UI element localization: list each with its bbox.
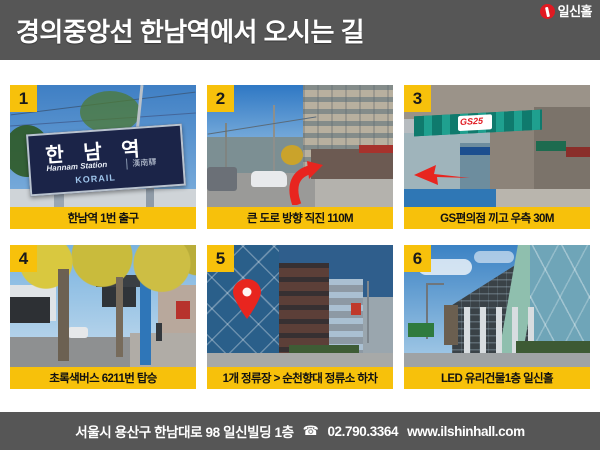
road	[404, 353, 590, 367]
step-caption-1: 한남역 1번 출구	[10, 207, 196, 229]
korail-logo: KORAIL	[75, 172, 116, 185]
shop-awning	[566, 147, 590, 157]
bare-tree	[444, 305, 458, 345]
step-caption-6: LED 유리건물1층 일신홀	[404, 367, 590, 389]
step-photo-2: 2	[207, 85, 393, 207]
sign-post	[146, 185, 154, 207]
step-panel-3: GS25 3 GS편의점 끼고 우측 30M	[404, 85, 590, 229]
step-panel-5: 5 1개 정류장 > 순천향대 정류소 하차	[207, 245, 393, 389]
glass-curtain-wall	[530, 245, 590, 353]
step-number-badge-5: 5	[207, 245, 234, 272]
red-left-arrow-icon	[414, 161, 470, 187]
step-caption-3: GS편의점 끼고 우측 30M	[404, 207, 590, 229]
green-highway-sign	[408, 323, 434, 337]
cloud	[474, 251, 514, 263]
step-caption-2: 큰 도로 방향 직진 110M	[207, 207, 393, 229]
left-storefront	[10, 297, 50, 323]
step-caption-5: 1개 정류장 > 순천향대 정류소 하차	[207, 367, 393, 389]
footer-address: 서울시 용산구 한남대로 98 일신빌딩 1층	[75, 421, 293, 441]
brand-name: 일신홀	[558, 5, 592, 18]
gs25-logo: GS25	[458, 114, 492, 131]
pedestrian	[156, 323, 162, 341]
step-number-badge-4: 4	[10, 245, 37, 272]
step-panel-4: 4 초록색버스 6211번 탑승	[10, 245, 196, 389]
step-photo-5: 5	[207, 245, 393, 367]
page-footer: 서울시 용산구 한남대로 98 일신빌딩 1층 ☎ 02.790.3364 ww…	[0, 412, 600, 450]
step-number-badge-3: 3	[404, 85, 431, 112]
pillar	[496, 307, 502, 355]
gs25-logo-text: GS25	[460, 116, 483, 127]
footer-phone: 02.790.3364	[327, 424, 398, 439]
step-photo-3: GS25 3	[404, 85, 590, 207]
utility-pole	[273, 105, 275, 177]
far-building	[359, 297, 393, 355]
red-sign	[351, 303, 361, 315]
station-name-hanja: 漢南驛	[126, 157, 157, 170]
page-header: 경의중앙선 한남역에서 오시는 길 일신홀	[0, 0, 600, 60]
page-title: 경의중앙선 한남역에서 오시는 길	[16, 12, 364, 49]
step-panel-1: 한 남 역 Hannam Station 漢南驛 KORAIL 1 한남역 1번…	[10, 85, 196, 229]
street-lamp-arm	[426, 283, 444, 285]
parked-car	[251, 171, 287, 187]
street-lamp	[367, 281, 369, 343]
autumn-tree-foliage	[10, 245, 196, 297]
ilshin-circle-logo-icon	[540, 4, 555, 19]
directions-step-grid: 한 남 역 Hannam Station 漢南驛 KORAIL 1 한남역 1번…	[10, 85, 590, 389]
blue-barrier	[404, 189, 496, 207]
step-panel-6: 6 LED 유리건물1층 일신홀	[404, 245, 590, 389]
step-panel-2: 2 큰 도로 방향 직진 110M	[207, 85, 393, 229]
tree-trunk	[116, 277, 123, 357]
step-number-badge-6: 6	[404, 245, 431, 272]
step-caption-4: 초록색버스 6211번 탑승	[10, 367, 196, 389]
atm-sign	[460, 147, 490, 155]
red-shop-sign	[176, 301, 190, 319]
shop-awning	[359, 145, 393, 153]
parked-van	[207, 167, 237, 191]
ground	[496, 189, 590, 207]
pillar	[464, 307, 470, 355]
telephone-icon: ☎	[303, 423, 319, 439]
station-name-sign: 한 남 역 Hannam Station 漢南驛 KORAIL	[26, 124, 186, 197]
tree-trunk	[58, 269, 69, 361]
step-number-badge-2: 2	[207, 85, 234, 112]
pillar	[480, 307, 486, 355]
diagonal-mullion-pattern	[530, 245, 590, 353]
red-map-pin-icon	[233, 279, 261, 319]
footer-website[interactable]: www.ilshinhall.com	[407, 424, 525, 439]
red-curved-arrow-icon	[287, 159, 327, 205]
brand-logo: 일신홀	[540, 4, 592, 19]
step-photo-6: 6	[404, 245, 590, 367]
road	[207, 353, 393, 367]
step-number-badge-1: 1	[10, 85, 37, 112]
step-photo-4: 4	[10, 245, 196, 367]
shop-awning	[536, 141, 566, 151]
car	[68, 327, 88, 338]
step-photo-1: 한 남 역 Hannam Station 漢南驛 KORAIL 1	[10, 85, 196, 207]
